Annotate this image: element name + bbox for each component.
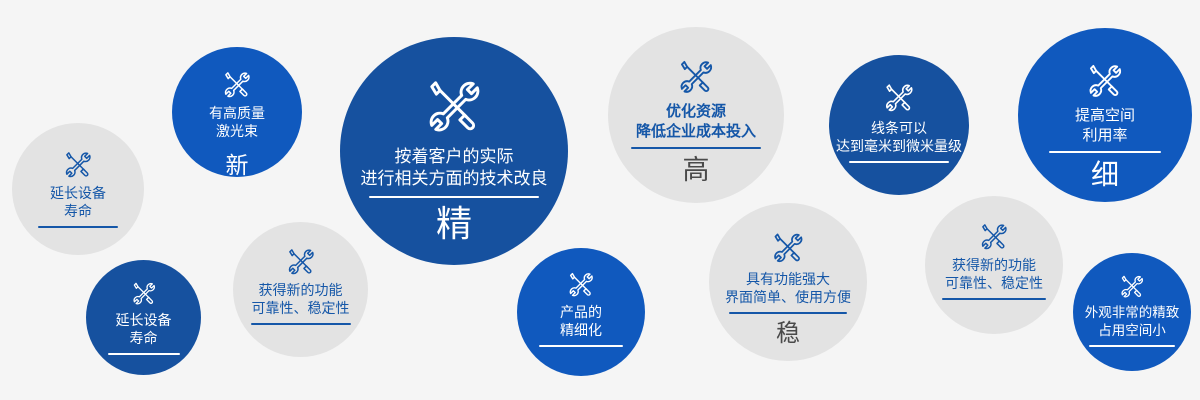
bubble-text-lines: 线条可以达到毫米到微米量级 [836, 119, 962, 156]
bubble-optimize-resources-reduce-cost[interactable]: 优化资源降低企业成本投入高 [608, 27, 784, 203]
bubble-line: 进行相关方面的技术改良 [361, 168, 548, 190]
bubble-exquisite-compact-appearance[interactable]: 外观非常的精致占用空间小 [1073, 253, 1191, 371]
bubble-line: 获得新的功能 [259, 281, 343, 299]
bubble-line: 具有功能强大 [746, 270, 830, 288]
bubble-text-lines: 获得新的功能可靠性、稳定性 [945, 256, 1043, 293]
bubble-divider [251, 323, 351, 325]
bubble-line: 优化资源 [666, 102, 726, 122]
bubble-line: 延长设备 [116, 311, 172, 329]
bubble-divider [108, 353, 180, 355]
bubble-line: 寿命 [64, 202, 92, 220]
bubble-new-features-reliability-grey-right[interactable]: 获得新的功能可靠性、稳定性 [925, 196, 1063, 334]
bubble-high-quality-laser-beam[interactable]: 有高质量激光束新 [172, 47, 302, 177]
wrench-screwdriver-icon [771, 230, 805, 264]
bubble-powerful-simple-interface[interactable]: 具有功能强大界面简单、使用方便稳 [709, 203, 867, 361]
bubble-extend-equipment-life-blue[interactable]: 延长设备寿命 [86, 260, 201, 375]
bubble-text-lines: 具有功能强大界面简单、使用方便 [725, 270, 851, 307]
wrench-screwdriver-icon [567, 270, 595, 298]
bubble-line: 获得新的功能 [952, 256, 1036, 274]
wrench-screwdriver-icon [424, 75, 484, 135]
wrench-screwdriver-icon [131, 280, 157, 306]
bubble-text-lines: 提高空间利用率 [1075, 106, 1135, 146]
bubble-text-lines: 延长设备寿命 [116, 311, 172, 348]
bubble-line: 激光束 [216, 122, 258, 140]
wrench-screwdriver-icon [1086, 61, 1124, 99]
bubble-line: 占用空间小 [1098, 322, 1166, 340]
bubble-keyword-char: 细 [1091, 161, 1119, 189]
bubble-divider [38, 226, 118, 228]
bubble-line: 降低企业成本投入 [636, 122, 756, 142]
bubble-text-lines: 外观非常的精致占用空间小 [1085, 304, 1180, 340]
bubble-line: 可靠性、稳定性 [945, 274, 1043, 292]
wrench-screwdriver-icon [677, 57, 715, 95]
bubble-text-lines: 有高质量激光束 [209, 104, 265, 141]
bubble-keyword-char: 新 [226, 154, 249, 177]
bubble-divider [1049, 151, 1161, 153]
bubble-extend-equipment-life-grey[interactable]: 延长设备寿命 [12, 123, 144, 255]
wrench-screwdriver-icon [979, 221, 1009, 251]
wrench-screwdriver-icon [1119, 273, 1145, 299]
bubble-line: 精细化 [560, 321, 602, 339]
bubble-divider [539, 345, 623, 347]
bubble-divider [729, 312, 847, 314]
bubble-customer-technical-improvement[interactable]: 按着客户的实际进行相关方面的技术改良精 [340, 37, 568, 265]
bubble-line: 产品的 [560, 303, 602, 321]
bubble-divider [942, 298, 1046, 300]
infographic-canvas: 延长设备寿命有高质量激光束新按着客户的实际进行相关方面的技术改良精优化资源降低企… [0, 0, 1200, 400]
wrench-screwdriver-icon [286, 246, 316, 276]
wrench-screwdriver-icon [883, 81, 915, 113]
bubble-divider [369, 196, 539, 198]
bubble-text-lines: 获得新的功能可靠性、稳定性 [252, 281, 350, 318]
bubble-divider [849, 161, 949, 163]
bubble-new-features-reliability-grey-left[interactable]: 获得新的功能可靠性、稳定性 [233, 222, 368, 357]
bubble-line: 线条可以 [871, 119, 927, 137]
wrench-screwdriver-icon [222, 69, 252, 99]
bubble-line-micron-precision[interactable]: 线条可以达到毫米到微米量级 [829, 55, 969, 195]
bubble-keyword-char: 稳 [776, 322, 800, 346]
bubble-line: 提高空间 [1075, 106, 1135, 126]
bubble-improve-space-utilization[interactable]: 提高空间利用率细 [1018, 28, 1192, 202]
bubble-line: 延长设备 [50, 184, 106, 202]
wrench-screwdriver-icon [63, 149, 93, 179]
bubble-text-lines: 产品的精细化 [560, 303, 602, 340]
bubble-line: 外观非常的精致 [1085, 304, 1180, 322]
bubble-keyword-char: 精 [436, 206, 472, 242]
bubble-line: 可靠性、稳定性 [252, 299, 350, 317]
bubble-text-lines: 优化资源降低企业成本投入 [636, 102, 756, 142]
bubble-divider [631, 147, 761, 149]
bubble-product-refinement[interactable]: 产品的精细化 [517, 248, 645, 376]
bubble-line: 有高质量 [209, 104, 265, 122]
bubble-line: 按着客户的实际 [395, 146, 514, 168]
bubble-text-lines: 延长设备寿命 [50, 184, 106, 221]
bubble-divider [1089, 345, 1175, 347]
bubble-line: 界面简单、使用方便 [725, 288, 851, 306]
bubble-text-lines: 按着客户的实际进行相关方面的技术改良 [361, 146, 548, 191]
bubble-line: 利用率 [1082, 126, 1127, 146]
bubble-line: 达到毫米到微米量级 [836, 137, 962, 155]
bubble-line: 寿命 [130, 329, 158, 347]
bubble-keyword-char: 高 [683, 157, 710, 184]
